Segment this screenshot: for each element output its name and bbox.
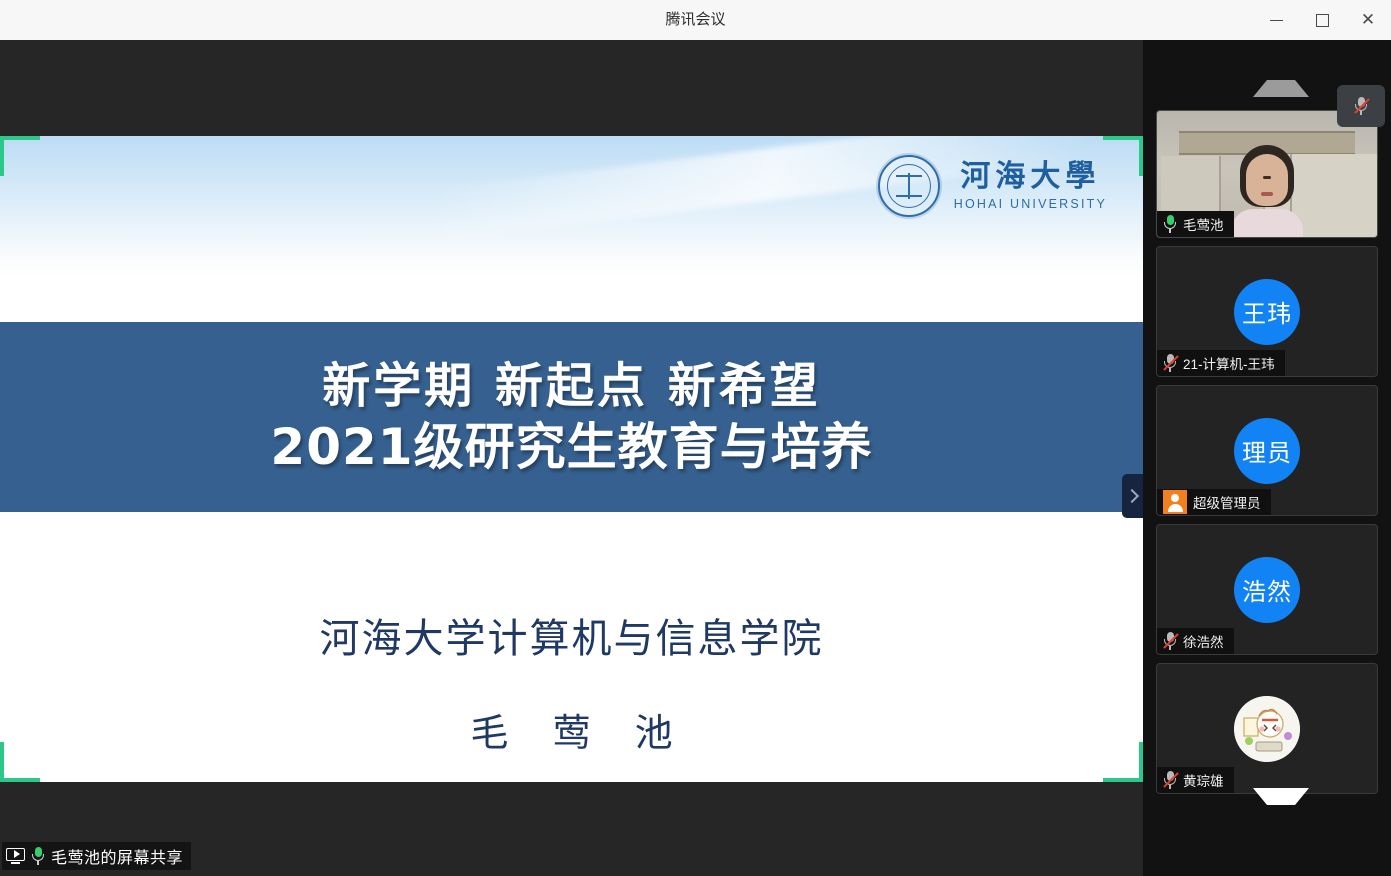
slide-title-line-2: 2021级研究生教育与培养 [270, 417, 872, 477]
presentation-slide: 河海大學 HOHAI UNIVERSITY 新学期 新起点 新希望 2021级研… [0, 136, 1143, 782]
participant-tile[interactable]: 王玮 21-计算机-王玮 [1156, 246, 1378, 377]
minimize-button[interactable] [1253, 0, 1299, 40]
scroll-up-arrow[interactable] [1253, 80, 1309, 97]
slide-organization: 河海大学计算机与信息学院 [320, 606, 824, 664]
participant-rail: 毛莺池 王玮 21-计算机-王玮 理员 超级管理员 [1143, 40, 1391, 876]
mic-muted-icon [1163, 771, 1177, 789]
participant-name: 21-计算机-王玮 [1183, 353, 1275, 373]
shared-screen-stage[interactable]: 河海大學 HOHAI UNIVERSITY 新学期 新起点 新希望 2021级研… [0, 40, 1143, 876]
window-title: 腾讯会议 [0, 0, 1391, 40]
slide-presenter: 毛 莺 池 [454, 702, 688, 757]
mic-muted-icon [1163, 354, 1177, 372]
collapse-panel-handle[interactable] [1122, 474, 1143, 518]
screen-share-icon [6, 848, 25, 864]
participant-nametag: 徐浩然 [1157, 628, 1234, 654]
participant-tile[interactable]: 浩然 徐浩然 [1156, 524, 1378, 655]
participant-tile[interactable]: 黄琮雄 [1156, 663, 1378, 794]
cartoon-avatar-icon [1234, 696, 1300, 762]
tencent-meeting-window: 腾讯会议 ✕ 河海大學 HOHAI UNIVERSITY 新学期 新起点 新希望 [0, 0, 1391, 876]
share-border-corner-top-left [0, 136, 40, 176]
maximize-button[interactable] [1299, 0, 1345, 40]
slide-body: 河海大学计算机与信息学院 毛 莺 池 2021年09月09日 [0, 512, 1143, 782]
avatar: 浩然 [1234, 557, 1300, 623]
title-bar: 腾讯会议 ✕ [0, 0, 1391, 41]
screen-share-label: 毛莺池的屏幕共享 [51, 844, 183, 868]
share-border-corner-bottom-right [1103, 742, 1143, 782]
chevron-right-icon [1124, 489, 1138, 503]
screen-share-status: 毛莺池的屏幕共享 [2, 842, 191, 870]
maximize-icon [1316, 14, 1329, 27]
university-seal-icon [878, 155, 940, 217]
participant-nametag: 超级管理员 [1157, 489, 1271, 515]
logo-english-name: HOHAI UNIVERSITY [954, 197, 1107, 211]
share-border-corner-top-right [1103, 136, 1143, 176]
participant-tiles: 毛莺池 王玮 21-计算机-王玮 理员 超级管理员 [1143, 110, 1391, 802]
participant-tile[interactable]: 理员 超级管理员 [1156, 385, 1378, 516]
participant-nametag: 21-计算机-王玮 [1157, 350, 1285, 376]
hohai-university-logo: 河海大學 HOHAI UNIVERSITY [878, 154, 1107, 218]
mic-on-icon [31, 847, 45, 865]
close-icon: ✕ [1361, 12, 1375, 29]
avatar: 王玮 [1234, 279, 1300, 345]
participant-nametag: 黄琮雄 [1157, 767, 1234, 793]
logo-chinese-name: 河海大學 [960, 161, 1100, 193]
admin-badge-icon [1163, 490, 1187, 514]
slide-title-line-1: 新学期 新起点 新希望 [322, 357, 820, 416]
avatar-image [1234, 696, 1300, 762]
close-button[interactable]: ✕ [1345, 0, 1391, 40]
mic-muted-icon [1354, 97, 1368, 115]
participant-name: 黄琮雄 [1183, 770, 1224, 790]
participant-name: 毛莺池 [1183, 214, 1224, 234]
self-mute-button[interactable] [1337, 85, 1385, 127]
minimize-icon [1270, 20, 1283, 21]
slide-title-band: 新学期 新起点 新希望 2021级研究生教育与培养 [0, 322, 1143, 512]
mic-muted-icon [1163, 632, 1177, 650]
participant-name: 徐浩然 [1183, 631, 1224, 651]
share-border-corner-bottom-left [0, 742, 40, 782]
window-controls: ✕ [1253, 0, 1391, 40]
scroll-down-arrow[interactable] [1253, 788, 1309, 805]
mic-on-icon [1163, 215, 1177, 233]
participant-name: 超级管理员 [1193, 492, 1261, 512]
avatar: 理员 [1234, 418, 1300, 484]
participant-nametag: 毛莺池 [1157, 211, 1234, 237]
participant-tile-video[interactable]: 毛莺池 [1156, 110, 1378, 238]
